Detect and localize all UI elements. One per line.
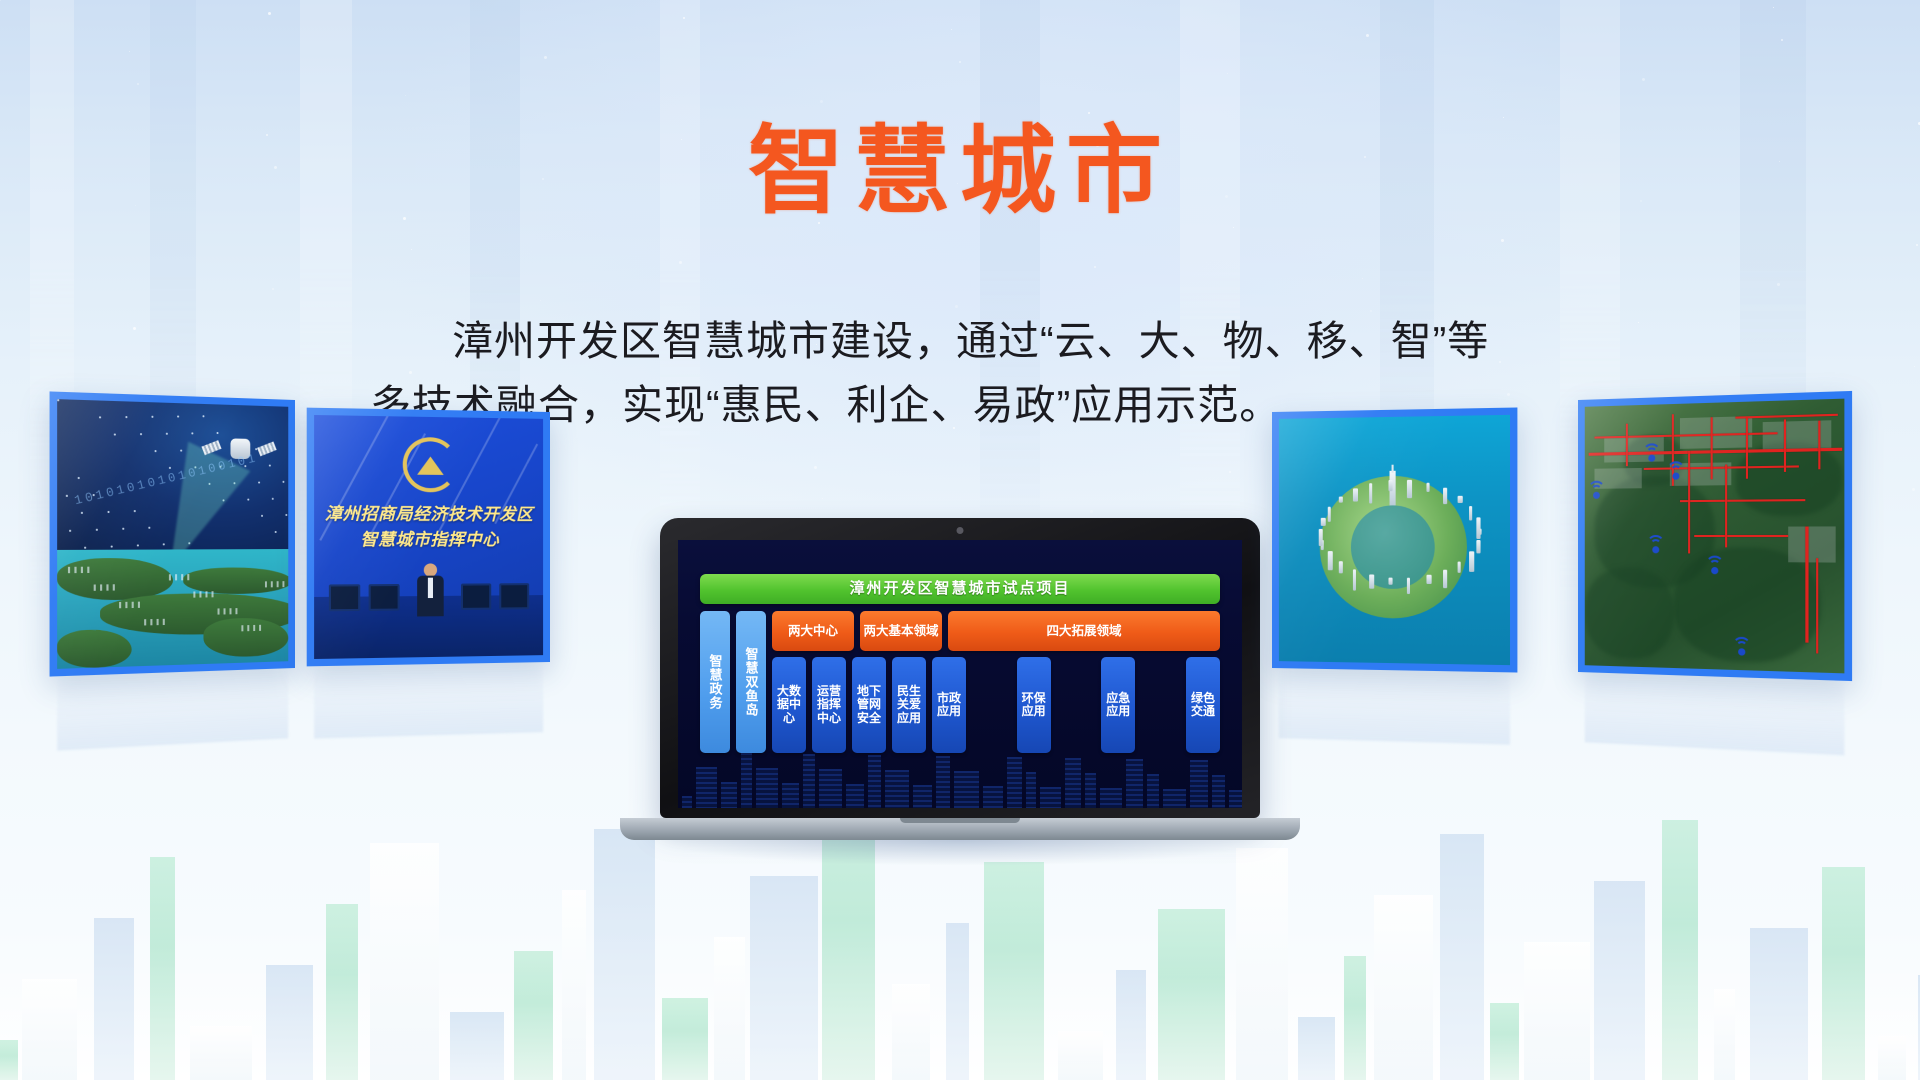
urban-blocks [1585, 399, 1845, 407]
panel-4-reflection [1279, 668, 1510, 745]
diagram-item-livelihood-care[interactable]: 民生关爱应用 [892, 657, 926, 753]
diagram-item-emergency-app[interactable]: 应急应用 [1101, 657, 1135, 753]
diagram-item-municipal-app[interactable]: 市政应用 [932, 657, 966, 753]
panel-5-image [1585, 399, 1845, 674]
wifi-marker-icon [1731, 637, 1752, 658]
diagram-item-underground-pipe-safety[interactable]: 地下管网安全 [852, 657, 886, 753]
panel-5-reflection [1585, 672, 1845, 755]
photo-panel-satellite-city[interactable]: 101010101010100101011010101010 [50, 391, 295, 676]
laptop-base [620, 818, 1300, 840]
presenter-figure [417, 563, 444, 616]
diagram-item-operation-command-center[interactable]: 运营指挥中心 [812, 657, 846, 753]
diagram-item-green-transport[interactable]: 绿色交通 [1186, 657, 1220, 753]
group-0-items: 大数据中心 运营指挥中心 [772, 657, 846, 753]
screen-skyline-graphic [678, 752, 1242, 808]
photo-panel-island-render[interactable] [1272, 407, 1517, 672]
wifi-marker-icon [1642, 443, 1662, 464]
panel-1-image: 101010101010100101011010101010 [57, 399, 288, 669]
diagram-body: 智慧政务 智慧双鱼岛 两大中心 两大基本领域 四大拓展领域 大数据中心 [700, 611, 1220, 753]
diagram-item-big-data-center[interactable]: 大数据中心 [772, 657, 806, 753]
group-1-items: 地下管网安全 民生关爱应用 [852, 657, 926, 753]
group-header-2[interactable]: 四大拓展领域 [948, 611, 1220, 651]
webcam-icon [957, 527, 964, 534]
subtitle-line-1: 漳州开发区智慧城市建设，通过“云、大、物、移、智”等 [370, 310, 1550, 374]
panel-2-image: 漳州招商局经济技术开发区 智慧城市指挥中心 [314, 415, 543, 659]
panel-1-reflection [57, 668, 288, 750]
diagram-pillar-0[interactable]: 智慧政务 [700, 611, 730, 753]
page-title: 智慧城市 [0, 124, 1920, 220]
wifi-marker-icon [1646, 535, 1666, 555]
wifi-marker-icon [1704, 556, 1725, 577]
cm-mountain-logo-icon [403, 437, 458, 492]
wifi-marker-icon [1666, 461, 1686, 482]
laptop-lid: 漳州开发区智慧城市试点项目 智慧政务 智慧双鱼岛 两大中心 两大基本领域 四大拓… [660, 518, 1260, 818]
photo-panel-command-center[interactable]: 漳州招商局经济技术开发区 智慧城市指挥中心 [307, 408, 550, 667]
island-lagoon [1351, 505, 1434, 589]
wifi-marker-icon [1587, 481, 1606, 501]
command-center-line-1: 漳州招商局经济技术开发区 [314, 500, 543, 525]
command-center-line-2: 智慧城市指挥中心 [314, 526, 543, 551]
laptop-device[interactable]: 漳州开发区智慧城市试点项目 智慧政务 智慧双鱼岛 两大中心 两大基本领域 四大拓… [660, 518, 1260, 848]
panel-4-image [1279, 415, 1510, 665]
vegetation-areas [1585, 399, 1845, 407]
road-network [1585, 399, 1845, 407]
group-header-0[interactable]: 两大中心 [772, 611, 854, 651]
island-buildings [1279, 415, 1510, 419]
diagram-title: 漳州开发区智慧城市试点项目 [700, 574, 1220, 604]
smart-city-diagram: 漳州开发区智慧城市试点项目 智慧政务 智慧双鱼岛 两大中心 两大基本领域 四大拓… [700, 574, 1220, 753]
photo-panel-satellite-map[interactable] [1578, 391, 1852, 681]
diagram-groups: 两大中心 两大基本领域 四大拓展领域 大数据中心 运营指挥中心 地 [772, 611, 1220, 753]
diagram-group-headers: 两大中心 两大基本领域 四大拓展领域 [772, 611, 1220, 651]
diagram-pillar-1[interactable]: 智慧双鱼岛 [736, 611, 766, 753]
diagram-item-environment-app[interactable]: 环保应用 [1017, 657, 1051, 753]
wifi-markers [1585, 399, 1845, 407]
diagram-group-items: 大数据中心 运营指挥中心 地下管网安全 民生关爱应用 市政应用 环保应用 [772, 657, 1220, 753]
laptop-screen: 漳州开发区智慧城市试点项目 智慧政务 智慧双鱼岛 两大中心 两大基本领域 四大拓… [678, 540, 1242, 808]
panel-2-reflection [314, 662, 543, 738]
group-header-1[interactable]: 两大基本领域 [860, 611, 942, 651]
group-2-items: 市政应用 环保应用 应急应用 绿色交通 [932, 657, 1220, 753]
slide-stage: 智慧城市 漳州开发区智慧城市建设，通过“云、大、物、移、智”等 多技术融合，实现… [0, 0, 1920, 1080]
laptop-shadow [650, 840, 1270, 866]
